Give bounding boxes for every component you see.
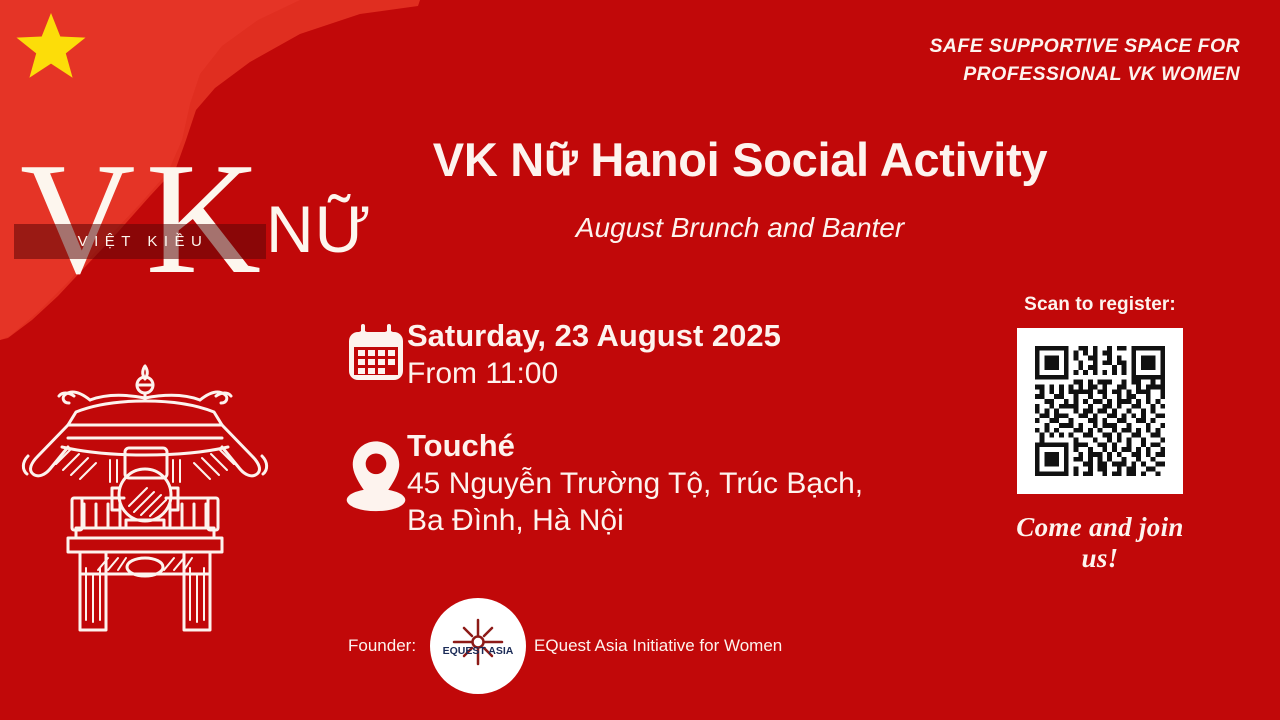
event-time: From 11:00 <box>407 355 781 393</box>
yellow-star-icon <box>14 10 88 82</box>
event-poster: VK NỮ VIỆT KIỀU <box>0 0 1280 720</box>
registration-block: Scan to register: <box>995 294 1205 574</box>
poster-tagline: SAFE SUPPORTIVE SPACE FOR PROFESSIONAL V… <box>780 32 1240 89</box>
tagline-line-1: SAFE SUPPORTIVE SPACE FOR <box>780 32 1240 60</box>
event-subtitle: August Brunch and Banter <box>330 212 1150 244</box>
qr-code-icon[interactable] <box>1017 328 1183 494</box>
calendar-icon <box>345 318 407 384</box>
logo-viet-kieu-text: VIỆT KIỀU <box>72 233 209 250</box>
event-date: Saturday, 23 August 2025 <box>407 318 781 355</box>
event-date-row: Saturday, 23 August 2025 From 11:00 <box>345 318 781 392</box>
venue-name: Touché <box>407 428 877 465</box>
equest-asia-wordmark: EQUEST ASIA <box>443 645 514 657</box>
event-location-row: Touché 45 Nguyễn Trường Tộ, Trúc Bạch, B… <box>345 428 877 540</box>
logo-vk-letters: VK <box>20 138 271 298</box>
equest-asia-logo: EQUEST ASIA <box>430 598 526 694</box>
location-pin-icon <box>345 428 407 518</box>
logo-viet-kieu-band: VIỆT KIỀU <box>14 224 266 259</box>
tagline-line-2: PROFESSIONAL VK WOMEN <box>780 60 1240 88</box>
founder-row: Founder: EQUEST ASIA EQuest Asia Initiat… <box>348 598 782 694</box>
temple-of-literature-icon <box>14 352 276 632</box>
venue-address: 45 Nguyễn Trường Tộ, Trúc Bạch, Ba Đình,… <box>407 465 877 540</box>
join-us-cta: Come and join us! <box>995 512 1205 574</box>
event-title: VK Nữ Hanoi Social Activity <box>330 133 1150 187</box>
founder-label: Founder: <box>348 636 416 656</box>
scan-to-register-label: Scan to register: <box>995 294 1205 316</box>
founder-name: EQuest Asia Initiative for Women <box>534 636 782 656</box>
